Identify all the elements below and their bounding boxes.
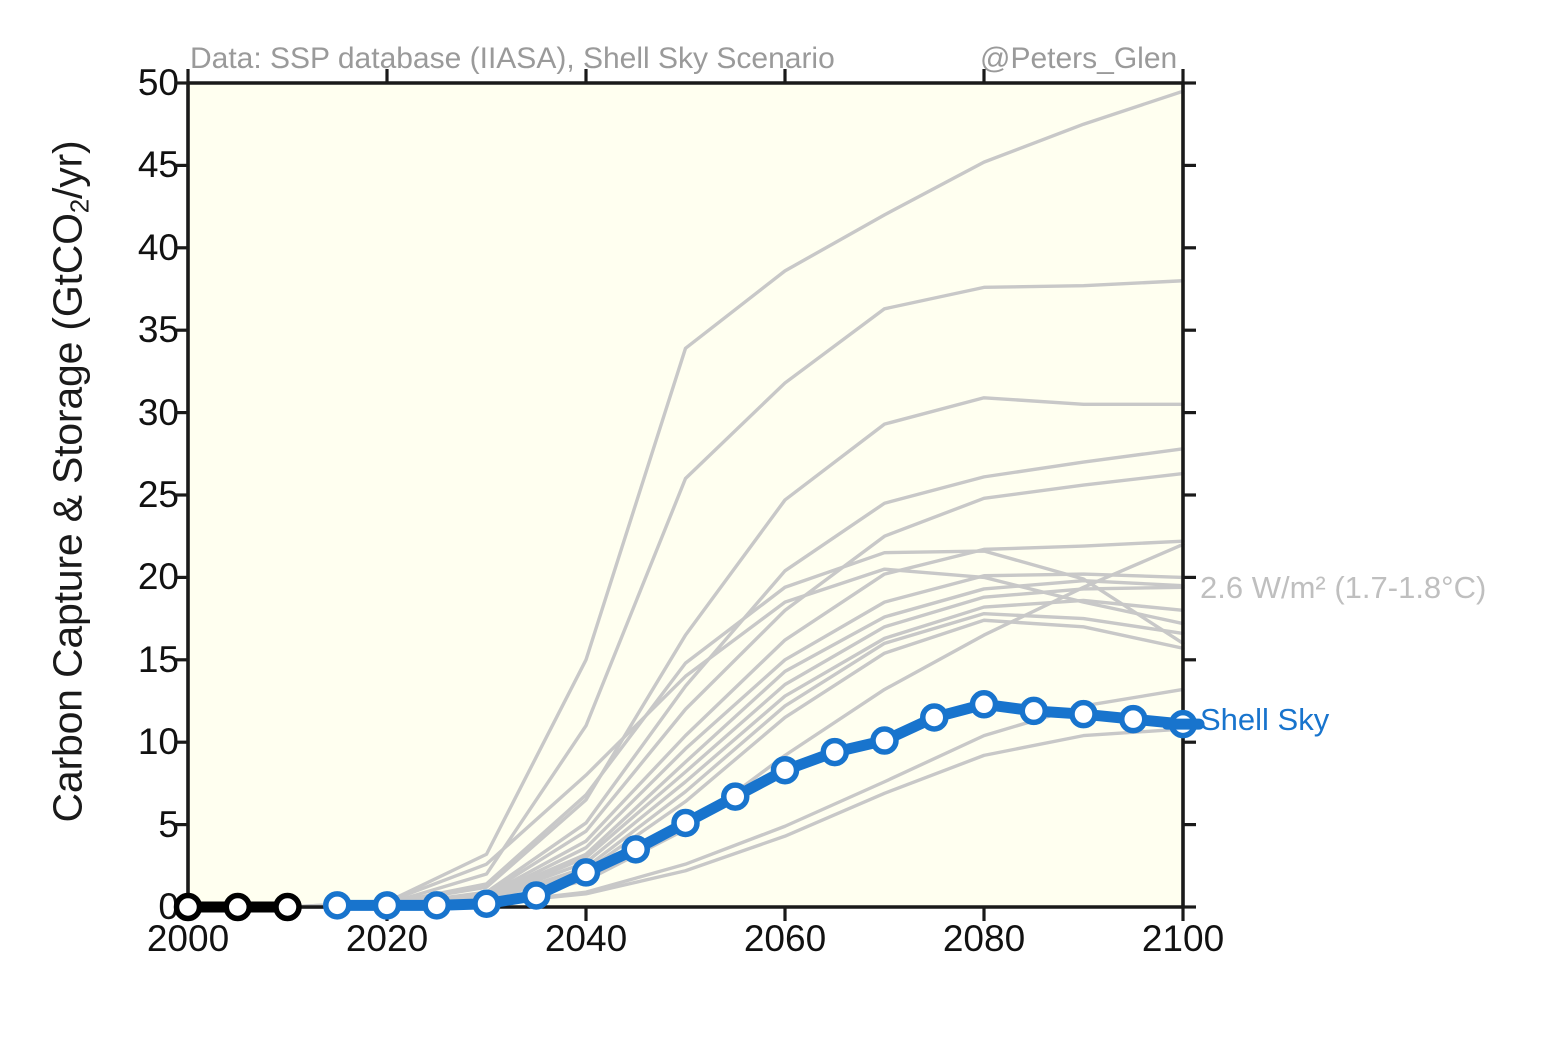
shell-sky-series-marker: [376, 894, 399, 917]
shell-sky-annotation: Shell Sky: [1200, 704, 1329, 735]
ensemble-annotation: 2.6 W/m² (1.7-1.8°C): [1200, 572, 1486, 603]
shell-sky-series-marker: [774, 759, 797, 782]
plot-canvas: [0, 0, 1556, 1039]
shell-sky-series-marker: [1022, 699, 1045, 722]
shell-sky-series-marker: [724, 785, 747, 808]
shell-sky-series-marker: [873, 729, 896, 752]
shell-sky-series-marker: [425, 894, 448, 917]
shell-sky-series-marker: [674, 811, 697, 834]
shell-sky-series-marker: [973, 693, 996, 716]
shell-sky-series-marker: [525, 884, 548, 907]
shell-sky-series-marker: [475, 892, 498, 915]
shell-sky-series-marker: [923, 706, 946, 729]
shell-sky-series-marker: [823, 741, 846, 764]
historical-series-marker: [177, 896, 200, 919]
shell-sky-series-marker: [1122, 708, 1145, 731]
historical-series-marker: [226, 896, 249, 919]
chart-figure: Carbon Capture & Storage (GtCO2/yr) Data…: [0, 0, 1556, 1039]
shell-sky-series-marker: [326, 894, 349, 917]
shell-sky-series-marker: [575, 861, 598, 884]
shell-sky-series-marker: [1072, 703, 1095, 726]
historical-series: [177, 896, 300, 919]
shell-sky-series-marker: [624, 838, 647, 861]
historical-series-marker: [276, 896, 299, 919]
